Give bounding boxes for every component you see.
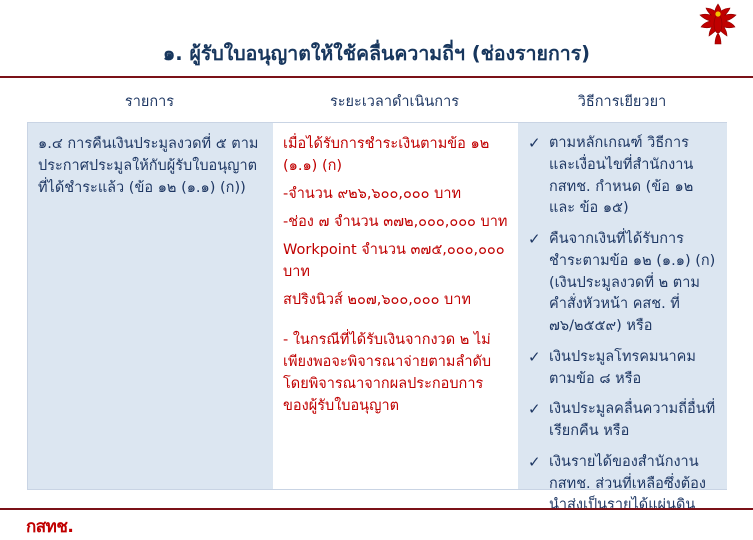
duration-paragraph: - ในกรณีที่ได้รับเงินจากงวด ๒ ไม่เพียงพอ…	[283, 329, 508, 417]
spacer	[283, 317, 508, 329]
remedy-list-item: ✓ ตามหลักเกณฑ์ วิธีการ และเงื่อนไขที่สำน…	[528, 133, 717, 220]
duration-paragraph: เมื่อได้รับการชำระเงินตามข้อ ๑๒ (๑.๑) (ก…	[283, 133, 508, 177]
remedy-list-item: ✓ เงินประมูลคลื่นความถี่อื่นที่เรียกคืน …	[528, 399, 717, 443]
remedy-item-text: เงินประมูลโทรคมนาคมตามข้อ ๘ หรือ	[549, 349, 696, 387]
check-icon: ✓	[528, 132, 541, 155]
table-cell-duration: เมื่อได้รับการชำระเงินตามข้อ ๑๒ (๑.๑) (ก…	[273, 123, 518, 489]
check-icon: ✓	[528, 346, 541, 369]
remedy-item-text: ตามหลักเกณฑ์ วิธีการ และเงื่อนไขที่สำนัก…	[549, 135, 693, 216]
remedy-list-item: ✓ คืนจากเงินที่ได้รับการชำระตามข้อ ๑๒ (๑…	[528, 229, 717, 338]
slide-root: ๑. ผู้รับใบอนุญาตให้ใช้คลื่นความถี่ฯ (ช่…	[0, 0, 753, 540]
item-paragraph: ๑.๔ การคืนเงินประมูลงวดที่ ๕ ตามประกาศปร…	[38, 133, 263, 199]
check-icon: ✓	[528, 228, 541, 251]
duration-paragraph: สปริงนิวส์ ๒๐๗,๖๐๐,๐๐๐ บาท	[283, 289, 508, 311]
column-header-duration: ระยะเวลาดำเนินการ	[272, 90, 517, 113]
remedy-item-text: คืนจากเงินที่ได้รับการชำระตามข้อ ๑๒ (๑.๑…	[549, 231, 715, 334]
duration-paragraph: -จำนวน ๙๒๖,๖๐๐,๐๐๐ บาท	[283, 183, 508, 205]
table-cell-remedy: ✓ ตามหลักเกณฑ์ วิธีการ และเงื่อนไขที่สำน…	[518, 123, 727, 489]
garuda-emblem-icon	[697, 2, 739, 48]
slide-footer: กสทช.	[0, 508, 753, 540]
remedy-item-text: เงินรายได้ของสำนักงาน กสทช. ส่วนที่เหลือ…	[549, 454, 706, 514]
duration-paragraph: Workpoint จำนวน ๓๗๕,๐๐๐,๐๐๐ บาท	[283, 239, 508, 283]
table-cell-item: ๑.๔ การคืนเงินประมูลงวดที่ ๕ ตามประกาศปร…	[28, 123, 273, 489]
table-column-headers: รายการ ระยะเวลาดำเนินการ วิธีการเยียวยา	[27, 88, 727, 123]
remedy-item-text: เงินประมูลคลื่นความถี่อื่นที่เรียกคืน หร…	[549, 401, 715, 439]
column-header-remedy: วิธีการเยียวยา	[517, 90, 727, 113]
check-icon: ✓	[528, 398, 541, 421]
column-header-item: รายการ	[27, 90, 272, 113]
organization-logo: กสทช.	[26, 513, 73, 540]
duration-paragraph: -ช่อง ๗ จำนวน ๓๗๒,๐๐๐,๐๐๐ บาท	[283, 211, 508, 233]
table-body: ๑.๔ การคืนเงินประมูลงวดที่ ๕ ตามประกาศปร…	[27, 122, 727, 490]
page-title: ๑. ผู้รับใบอนุญาตให้ใช้คลื่นความถี่ฯ (ช่…	[0, 38, 753, 69]
check-icon: ✓	[528, 451, 541, 474]
slide-header: ๑. ผู้รับใบอนุญาตให้ใช้คลื่นความถี่ฯ (ช่…	[0, 0, 753, 78]
remedy-list-item: ✓ เงินประมูลโทรคมนาคมตามข้อ ๘ หรือ	[528, 347, 717, 391]
